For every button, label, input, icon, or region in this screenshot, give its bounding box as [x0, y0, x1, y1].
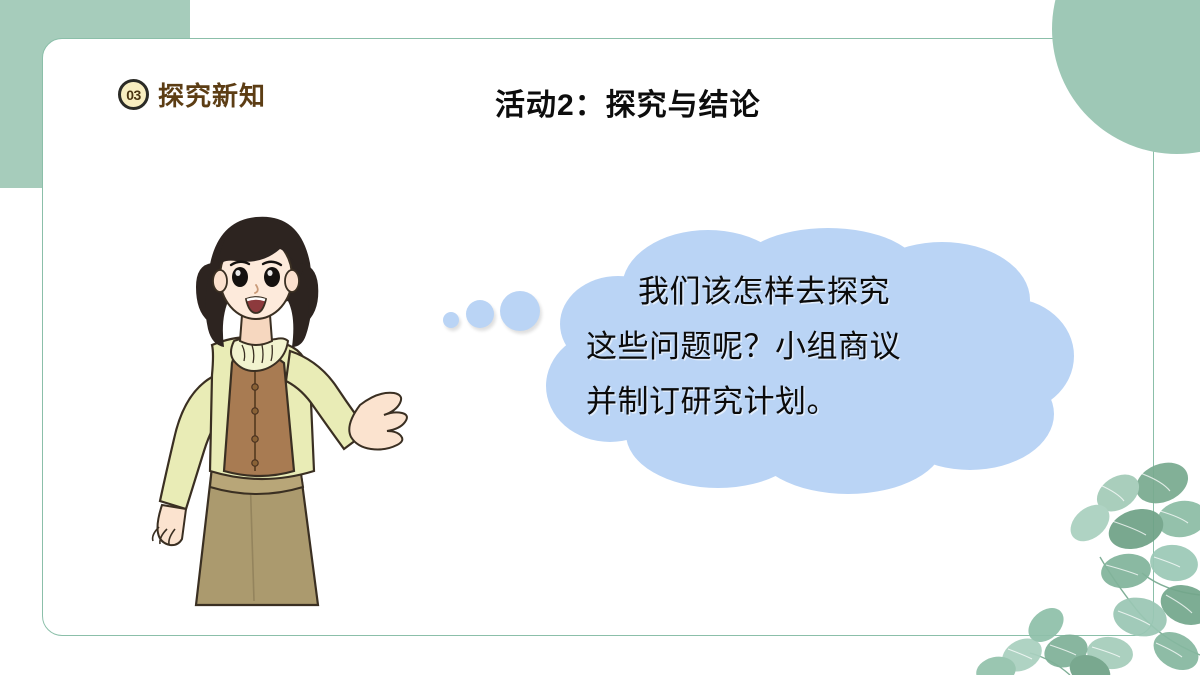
speech-line-2: 这些问题呢？小组商议: [586, 319, 1032, 374]
section-tag: 03 探究新知: [118, 76, 266, 113]
speech-line-1: 我们该怎样去探究: [586, 264, 1032, 319]
thought-dot-large: [500, 291, 540, 331]
section-number-badge: 03: [118, 79, 149, 110]
speech-bubble-text: 我们该怎样去探究 这些问题呢？小组商议 并制订研究计划。: [586, 264, 1032, 429]
section-number-text: 03: [126, 88, 141, 102]
speech-line-3: 并制订研究计划。: [586, 374, 1032, 429]
thought-dot-small: [443, 312, 459, 328]
thought-dot-medium: [466, 300, 494, 328]
activity-title: 活动2：探究与结论: [495, 80, 761, 124]
teacher-illustration: [150, 205, 410, 625]
section-label: 探究新知: [158, 76, 266, 113]
speech-bubble: 我们该怎样去探究 这些问题呢？小组商议 并制订研究计划。: [538, 228, 1078, 503]
slide-canvas: 03 探究新知 活动2：探究与结论: [0, 0, 1200, 675]
